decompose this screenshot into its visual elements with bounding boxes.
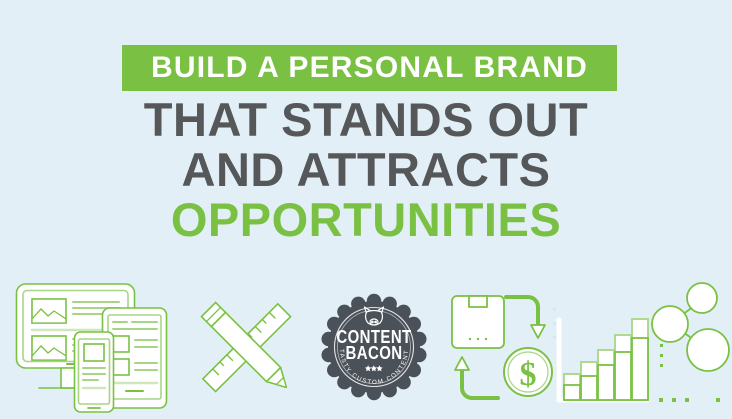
headline-block: THAT STANDS OUT AND ATTRACTS OPPORTUNITI… [0,95,732,245]
badge-line-2: BACON [346,342,403,363]
content-bacon-badge-icon: CONTENT BACON TASTY CUSTOM CONTENT [318,278,430,416]
headline-line-1: THAT STANDS OUT [0,95,732,145]
responsive-devices-icon [14,278,189,416]
pencil-ruler-icon [190,278,302,416]
dollar-glyph: $ [520,356,537,393]
icon-row: CONTENT BACON TASTY CUSTOM CONTENT [0,278,732,419]
headline-line-2: AND ATTRACTS [0,145,732,195]
network-nodes-icon [648,278,732,416]
headline-line-3: OPPORTUNITIES [0,195,732,245]
banner-text: BUILD A PERSONAL BRAND [151,53,588,83]
box-dollar-cycle-icon: $ [444,278,559,416]
bar-chart-growth-icon [552,278,652,416]
banner-bar: BUILD A PERSONAL BRAND [122,45,617,91]
infographic-header: BUILD A PERSONAL BRAND THAT STANDS OUT A… [0,0,732,419]
